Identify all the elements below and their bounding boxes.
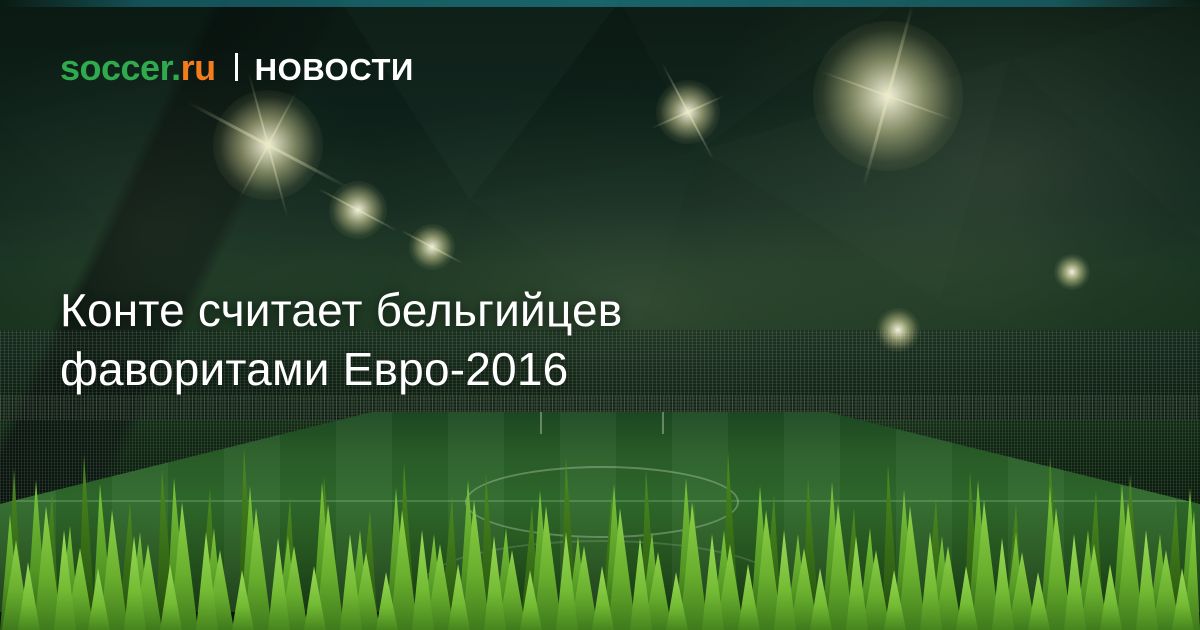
header-separator: [235, 53, 238, 81]
headline-line-2: фаворитами Евро-2016: [60, 340, 860, 399]
logo-text-ru: ru: [181, 47, 216, 88]
site-header: soccer.ru НОВОСТИ: [60, 50, 414, 86]
advertising-boards: [0, 0, 1200, 7]
section-label-news: НОВОСТИ: [255, 54, 414, 85]
logo-text-dot: .: [171, 47, 181, 88]
logo-text-soccer: soccer: [60, 47, 171, 88]
soccer-ru-logo[interactable]: soccer.ru: [60, 50, 216, 86]
article-headline: Конте считает бельгийцев фаворитами Евро…: [60, 281, 860, 399]
headline-line-1: Конте считает бельгийцев: [60, 284, 622, 336]
grass-foreground: [0, 440, 1200, 630]
far-goal: [540, 410, 664, 434]
news-share-card: soccer.ru НОВОСТИ Конте считает бельгийц…: [0, 0, 1200, 630]
